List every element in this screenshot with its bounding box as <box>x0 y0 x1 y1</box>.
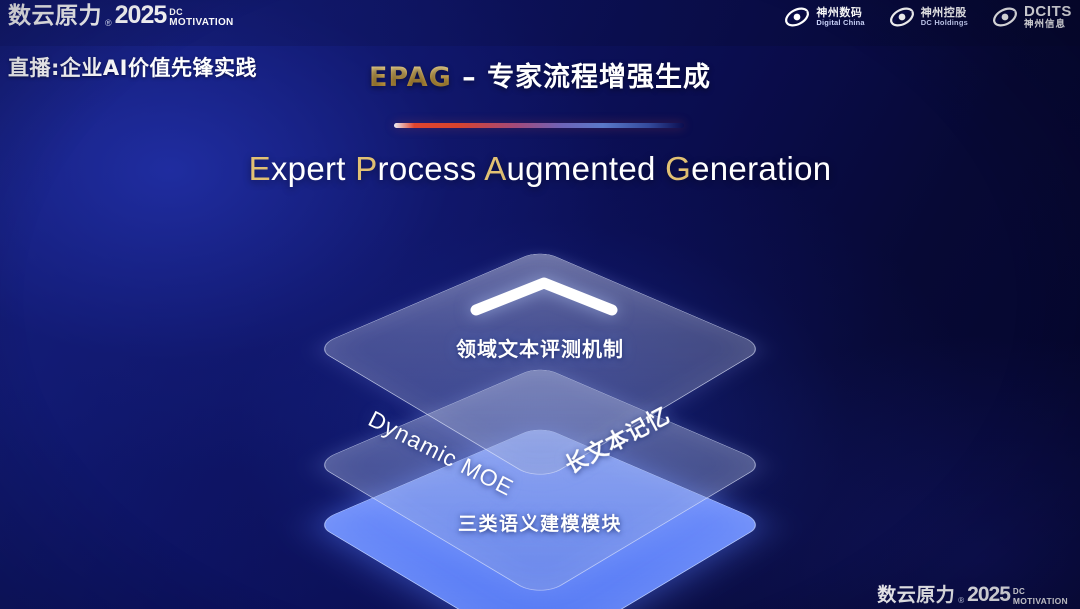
subtitle-cap: A <box>484 150 506 187</box>
brand-motivation: MOTIVATION <box>1013 597 1068 606</box>
plate-wrapper <box>305 398 775 609</box>
diagram-layer-bottom <box>305 398 775 609</box>
partner-logo-dc-holdings: 神州控股 DC Holdings <box>889 4 968 30</box>
layer-label-middle-left: Dynamic MOE <box>364 405 518 501</box>
brand-name-cn: 数云原力 <box>8 5 102 28</box>
subtitle-word-generation: Generation <box>665 150 831 187</box>
brand-name-cn: 数云原力 <box>877 586 955 605</box>
brand-year: 2025 <box>115 3 167 28</box>
registered-mark: ® <box>958 597 964 605</box>
plate-surface-top <box>314 250 767 482</box>
swoosh-icon <box>784 4 810 30</box>
diagram-layer-middle <box>305 338 775 588</box>
subtitle-rest: ugmented <box>507 150 656 187</box>
layer-label-bottom: 三类语义建模模块 <box>0 509 1080 536</box>
slide-canvas: 数云原力 ® 2025 DC MOTIVATION 直播:企业AI价值先锋实践 … <box>0 0 1080 609</box>
diagram-layer-top <box>305 222 775 472</box>
subtitle-word-expert: Expert <box>249 150 346 187</box>
partner-text: 神州控股 DC Holdings <box>921 7 968 26</box>
plate-surface-bottom <box>314 426 767 609</box>
swoosh-icon <box>889 4 915 30</box>
partner-name-cn: 神州信息 <box>1024 20 1072 30</box>
page-subtitle: Expert Process Augmented Generation <box>0 150 1080 188</box>
registered-mark: ® <box>105 19 112 28</box>
plate-surface-middle <box>314 366 767 598</box>
subtitle-cap: G <box>665 150 691 187</box>
title-chinese: 专家流程增强生成 <box>487 62 711 93</box>
partner-text: 神州数码 Digital China <box>816 7 864 26</box>
subtitle-rest: rocess <box>378 150 477 187</box>
partner-text: DCITS 神州信息 <box>1024 4 1072 30</box>
brand-tagline: DC MOTIVATION <box>1013 588 1068 606</box>
partner-name-en: Digital China <box>816 19 864 27</box>
title-divider <box>394 123 684 128</box>
partner-logo-digital-china: 神州数码 Digital China <box>784 4 864 30</box>
subtitle-rest: eneration <box>691 150 831 187</box>
title-separator: – <box>452 62 487 93</box>
layer-label-top: 领域文本评测机制 <box>0 333 1080 362</box>
swoosh-icon <box>992 4 1018 30</box>
chevron-up-icon <box>470 276 618 316</box>
plate-wrapper <box>305 222 775 472</box>
brand-tagline: DC MOTIVATION <box>169 8 233 28</box>
brand-dc: DC <box>169 8 233 17</box>
layer-label-middle-right: 长文本记忆 <box>558 398 675 480</box>
subtitle-word-process: Process <box>355 150 476 187</box>
partner-name-en: DCITS <box>1024 4 1072 20</box>
brand-dc: DC <box>1013 588 1068 596</box>
subtitle-cap: P <box>355 150 377 187</box>
partner-logo-group: 神州数码 Digital China 神州控股 DC Holdings <box>784 4 1072 30</box>
subtitle-rest: xpert <box>271 150 346 187</box>
page-title: EPAG – 专家流程增强生成 <box>0 55 1080 94</box>
title-acronym: EPAG <box>369 62 452 93</box>
subtitle-cap: E <box>249 150 271 187</box>
partner-logo-dcits: DCITS 神州信息 <box>992 4 1072 30</box>
subtitle-word-augmented: Augmented <box>484 150 656 187</box>
plate-wrapper <box>305 338 775 588</box>
brand-year: 2025 <box>967 584 1010 605</box>
brand-motivation: MOTIVATION <box>169 18 233 28</box>
brand-logo-watermark: 数云原力 ® 2025 DC MOTIVATION <box>877 584 1068 605</box>
brand-logo-top: 数云原力 ® 2025 DC MOTIVATION <box>8 3 234 28</box>
partner-name-en: DC Holdings <box>921 19 968 27</box>
